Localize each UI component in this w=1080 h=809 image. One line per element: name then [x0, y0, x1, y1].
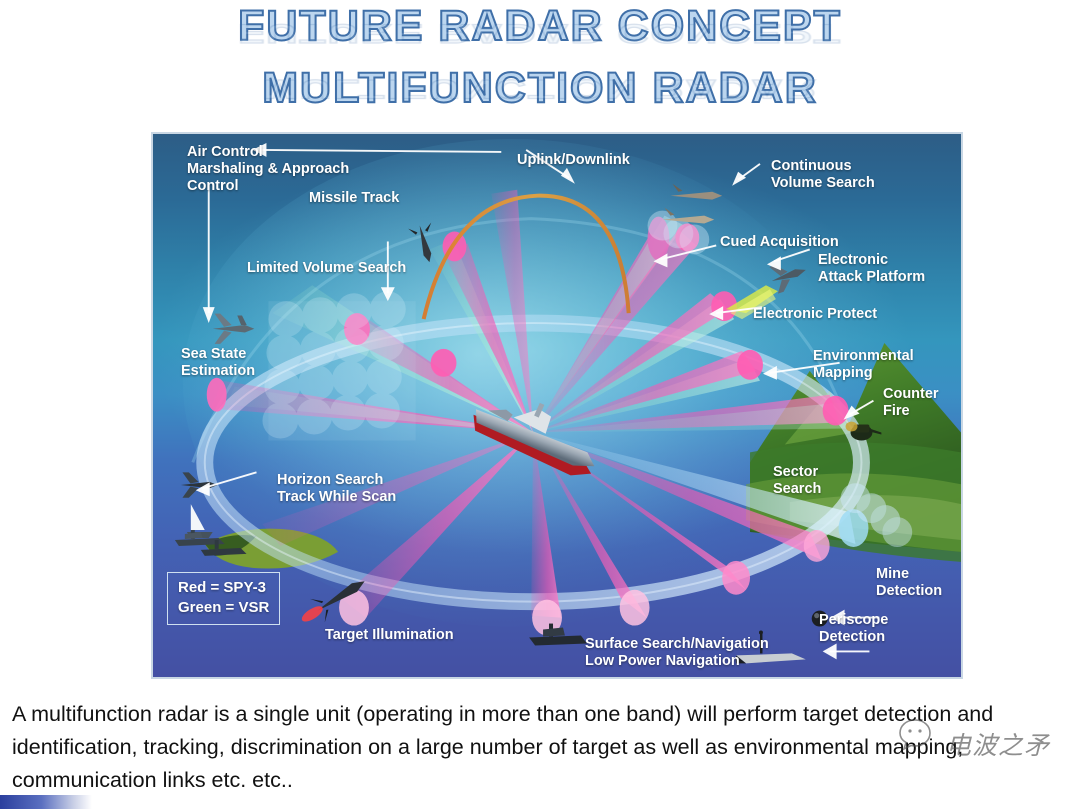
label-air-control: Air Control Marshaling & Approach Contro…: [187, 144, 349, 195]
label-electronic-attack-platform: Electronic Attack Platform: [818, 252, 925, 286]
label-uplink-downlink: Uplink/Downlink: [517, 152, 630, 169]
label-target-illumination: Target Illumination: [325, 627, 454, 644]
label-environmental-mapping: Environmental Mapping: [813, 348, 914, 382]
legend-item-vsr: Green = VSR: [178, 598, 269, 618]
label-electronic-protect: Electronic Protect: [753, 306, 877, 323]
limited-volume-search-grid: [262, 291, 415, 440]
label-continuous-volume-search: Continuous Volume Search: [771, 158, 875, 192]
label-horizon-search: Horizon Search Track While Scan: [277, 472, 396, 506]
bottom-accent-bar: [0, 795, 92, 809]
label-sea-state-estimation: Sea State Estimation: [181, 346, 255, 380]
page-title-line-2: MULTIFUNCTION RADAR: [0, 64, 1080, 112]
legend-box: Red = SPY-3 Green = VSR: [167, 572, 280, 625]
label-surface-search: Surface Search/Navigation Low Power Navi…: [585, 636, 769, 670]
label-sector-search: Sector Search: [773, 464, 821, 498]
label-mine-detection: Mine Detection: [876, 566, 942, 600]
label-periscope-detection: Periscope Detection: [819, 612, 888, 646]
radar-concept-diagram: Air Control Marshaling & Approach Contro…: [151, 132, 963, 679]
label-counter-fire: Counter Fire: [883, 386, 939, 420]
page-title-line-1: FUTURE RADAR CONCEPT: [0, 2, 1080, 50]
legend-item-spy3: Red = SPY-3: [178, 578, 269, 598]
label-limited-volume-search: Limited Volume Search: [247, 260, 406, 277]
label-missile-track: Missile Track: [309, 190, 399, 207]
label-cued-acquisition: Cued Acquisition: [720, 234, 839, 251]
slide-caption: A multifunction radar is a single unit (…: [12, 698, 1062, 797]
slide-title-block: FUTURE RADAR CONCEPT MULTIFUNCTION RADAR…: [0, 2, 1080, 112]
